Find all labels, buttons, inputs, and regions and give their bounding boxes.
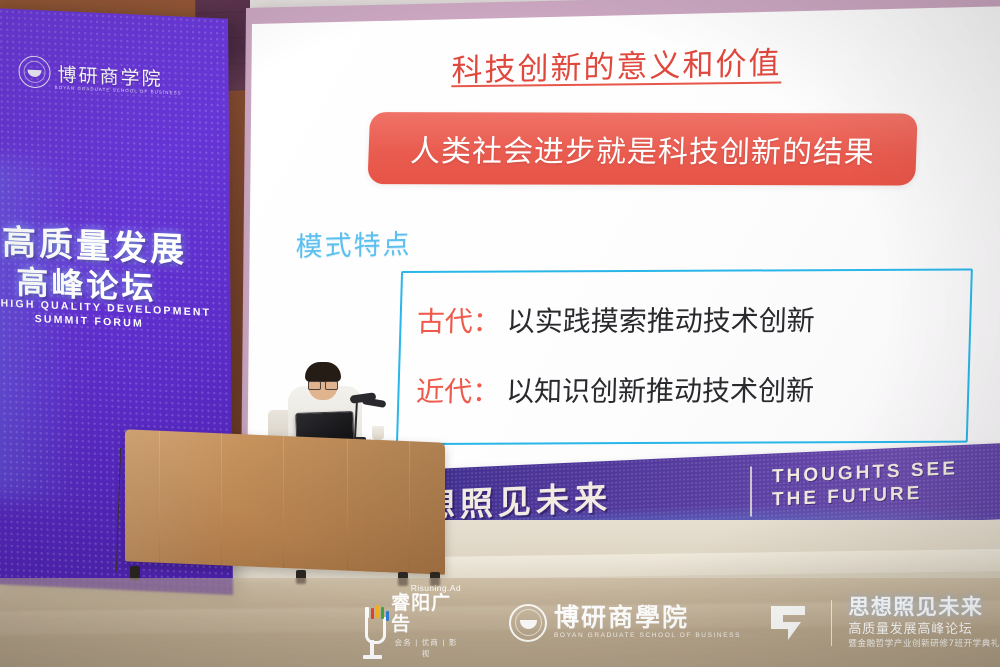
table-cloth-fold [159, 431, 160, 563]
forum-name: 高质量发展高峰论坛 [848, 623, 1000, 636]
forum-title-block: 思想照见未来 高质量发展高峰论坛 暨金融哲学产业创新研修7班开学典礼 [848, 597, 1000, 649]
seal-smile-shape [28, 70, 42, 78]
microphone-logo-icon [358, 607, 384, 663]
boyan-seal-icon [18, 55, 50, 88]
risuning-text-block: Risuning.Ad 睿阳广告 会务 | 优商 | 影视 [391, 583, 461, 663]
color-bar [381, 607, 384, 619]
speaker-table-cloth [125, 429, 445, 574]
standee-light-sheen [0, 156, 76, 502]
slide-row-label: 近代： [416, 370, 501, 410]
footer-divider [831, 600, 832, 646]
speaker-hair [305, 362, 341, 382]
risuning-chinese: 睿阳广告 [391, 593, 461, 635]
boyan-english: BOYAN GRADUATE SCHOOL OF BUSINESS [554, 633, 741, 640]
risuning-services: 会务 | 优商 | 影视 [391, 637, 461, 659]
mic-logo-color-bars [371, 605, 391, 623]
table-cloth-shading [125, 429, 445, 574]
boyan-logo-block: 博研商學院 BOYAN GRADUATE SCHOOL OF BUSINESS [509, 604, 741, 642]
water-cup [372, 426, 384, 440]
slide-row-text: 以实践摸索推动技术创新 [506, 299, 815, 340]
color-bar [386, 611, 389, 621]
footer-logo-bar: Risuning.Ad 睿阳广告 会务 | 优商 | 影视 博研商學院 BOYA… [0, 578, 1000, 667]
stage-banner-chinese: 想照见未来 [422, 471, 612, 528]
forum-chevron-icon [767, 603, 809, 643]
risuning-english: Risuning.Ad [391, 583, 461, 593]
mic-logo-foot [363, 655, 382, 659]
table-cloth-fold [409, 441, 410, 573]
color-bar [371, 608, 374, 619]
table-cloth-fold [283, 436, 284, 568]
slide-row-label: 古代： [416, 300, 501, 340]
slide-row-modern: 近代： 以知识创新推动技术创新 [415, 365, 976, 414]
boyan-chinese: 博研商學院 [554, 605, 741, 630]
table-cloth-fold [347, 439, 348, 571]
speaker-glasses-right-lens [325, 381, 338, 390]
speaker-glasses-left-lens [308, 381, 321, 390]
seal-smile-shape [520, 620, 537, 629]
slide-highlight-banner-text: 人类社会进步就是科技创新的结果 [367, 112, 917, 185]
conference-photo-scene: 科技创新的意义和价值 人类社会进步就是科技创新的结果 模式特点 古代： 以实践摸… [0, 0, 1000, 667]
slide-row-ancient: 古代： 以实践摸索推动技术创新 [416, 295, 977, 344]
forum-slogan: 思想照见未来 [848, 597, 1000, 618]
table-cloth-fold [221, 433, 222, 565]
slide-section-heading: 模式特点 [295, 222, 411, 264]
stage-banner-english: THOUGHTS SEE THE FUTURE [772, 457, 958, 511]
slide-highlight-banner: 人类社会进步就是科技创新的结果 [367, 112, 917, 185]
color-bar [376, 605, 379, 618]
footer-content: Risuning.Ad 睿阳广告 会务 | 优商 | 影视 博研商學院 BOYA… [358, 578, 1000, 667]
mic-logo-stem [365, 607, 369, 618]
slide-row-text: 以知识创新推动技术创新 [506, 369, 815, 410]
boyan-text-block: 博研商學院 BOYAN GRADUATE SCHOOL OF BUSINESS [554, 605, 741, 640]
risuning-logo-block: Risuning.Ad 睿阳广告 会务 | 优商 | 影视 [358, 583, 461, 663]
mic-logo-pole [370, 640, 374, 656]
forum-subtitle: 暨金融哲学产业创新研修7班开学典礼 [848, 640, 1000, 649]
boyan-seal-icon [509, 604, 547, 642]
stage-banner-divider [750, 466, 752, 516]
